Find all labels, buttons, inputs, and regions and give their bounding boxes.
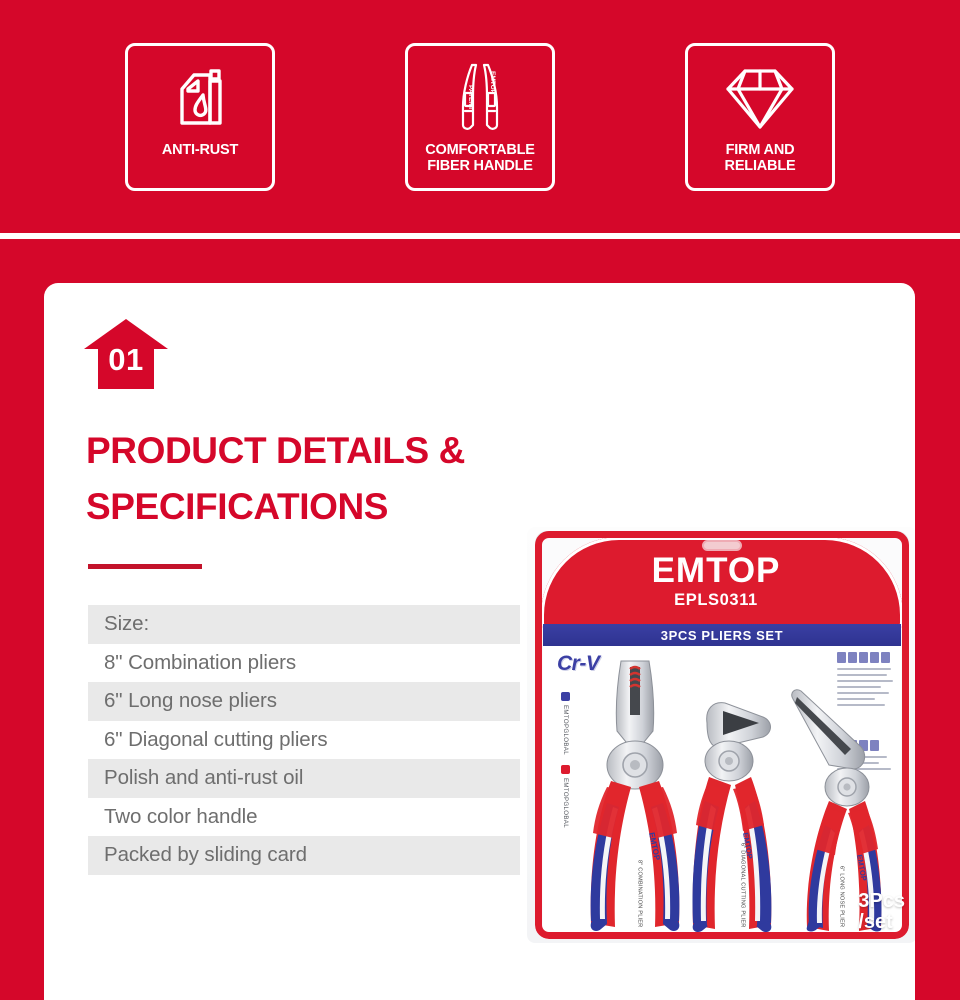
diamond-icon [724,60,796,136]
instagram-icon [561,765,570,774]
social-handle-label: EMTOPGLOBAL [562,705,569,755]
package-product-band: 3PCS PLIERS SET [543,624,901,646]
pcs-badge-line1: 3Pcs [858,891,905,912]
spec-row: 8" Combination pliers [88,644,520,683]
feature-banner: ANTI-RUST PATENT EMTOP COMFORT [0,0,960,233]
blister-pack: EMTOP EPLS0311 3PCS PLIERS SET Cr-V EMTO… [535,531,909,939]
section-number-badge: 01 [84,319,168,389]
page-title-line1: PRODUCT DETAILS & [86,430,465,471]
spec-row: Two color handle [88,798,520,837]
package-social-handles: EMTOPGLOBAL EMTOPGLOBAL [561,692,577,838]
social-handle-label: EMTOPGLOBAL [562,778,569,828]
spec-row: 6" Long nose pliers [88,682,520,721]
product-detail-page: ANTI-RUST PATENT EMTOP COMFORT [0,0,960,1000]
spec-row: Polish and anti-rust oil [88,759,520,798]
package-product-stage: Cr-V EMTOPGLOBAL EMTOPGLOBAL [543,646,901,933]
oil-canister-icon [168,60,232,136]
title-underline-rule [88,564,202,569]
specification-list: Size: 8" Combination pliers 6" Long nose… [88,605,520,875]
section-number-label: 01 [84,341,168,379]
package-model-number: EPLS0311 [535,591,897,610]
tool-label: 6" DIAGONAL CUTTING PLIER [731,843,746,927]
spec-row: Size: [88,605,520,644]
pcs-per-set-badge: 3Pcs /set [858,891,905,933]
svg-text:EMTOP: EMTOP [489,71,496,95]
feature-label-anti-rust: ANTI-RUST [130,142,270,158]
fiber-handle-icon: PATENT EMTOP [445,60,515,136]
spec-row: Packed by sliding card [88,836,520,875]
content-card: 01 PRODUCT DETAILS & SPECIFICATIONS Size… [44,283,915,1000]
svg-text:PATENT: PATENT [467,85,474,110]
label-chip-row [837,652,895,663]
tool-combination-plier: EMTOP 8" COMBINATION PLIER [577,657,693,933]
feature-label-line2: RELIABLE [725,158,796,174]
spec-row: 6" Diagonal cutting pliers [88,721,520,760]
feature-card-row: ANTI-RUST PATENT EMTOP COMFORT [0,0,960,233]
tool-label: 8" COMBINATION PLIER [628,860,643,927]
hang-hole [702,540,742,551]
social-facebook: EMTOPGLOBAL [561,692,570,755]
tool-diagonal-cutting-plier: EMTOP 6" DIAGONAL CUTTING PLIER [685,685,791,933]
feature-label-line1: FIRM AND [726,142,795,158]
pcs-badge-line2: /set [858,912,905,933]
feature-label-firm-reliable: FIRM AND RELIABLE [690,142,830,174]
package-product-band-label: 3PCS PLIERS SET [661,628,783,643]
feature-card-anti-rust: ANTI-RUST [125,43,275,191]
product-package-image: EMTOP EPLS0311 3PCS PLIERS SET Cr-V EMTO… [527,527,915,943]
page-title-line2: SPECIFICATIONS [86,486,388,527]
facebook-icon [561,692,570,701]
tool-label: 6" LONG NOSE PLIER [830,866,845,927]
page-title: PRODUCT DETAILS & SPECIFICATIONS [86,423,606,535]
feature-label-line1: COMFORTABLE [425,142,535,158]
social-instagram: EMTOPGLOBAL [561,765,570,828]
feature-label-line2: FIBER HANDLE [427,158,533,174]
package-brand-logo: EMTOP [535,553,897,589]
feature-label-fiber-handle: COMFORTABLE FIBER HANDLE [410,142,550,174]
feature-card-fiber-handle: PATENT EMTOP COMFORTABLE FIBER HANDLE [405,43,555,191]
feature-card-firm-reliable: FIRM AND RELIABLE [685,43,835,191]
